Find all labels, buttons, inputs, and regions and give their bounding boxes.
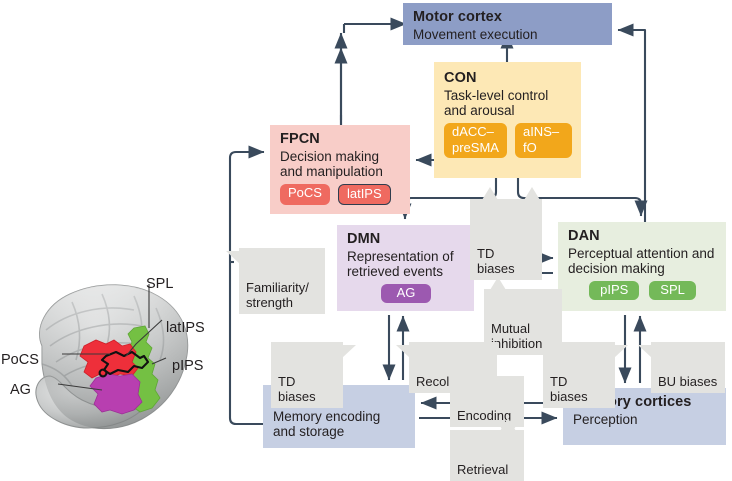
motor-subtitle: Movement execution — [413, 27, 603, 43]
brain-label-pips: pIPS — [172, 358, 203, 374]
con-title: CON — [444, 70, 572, 87]
callout-pointer-up-right-icon — [524, 187, 540, 200]
tag-spl[interactable]: SPL — [649, 281, 696, 300]
edge-label-retrieval: Retrieval — [450, 430, 524, 481]
edge-label-familiarity: Familiarity/ strength — [239, 248, 325, 314]
callout-pointer-left-icon — [226, 251, 240, 264]
dmn-title: DMN — [347, 231, 465, 248]
con-tag-row: dACC– preSMA aINS–fO — [444, 123, 572, 158]
callout-pointer-up-icon — [490, 277, 506, 290]
dmn-tag-row: AG — [347, 284, 465, 303]
dmn-subtitle: Representation of retrieved events — [347, 249, 465, 280]
diagram-canvas: Motor cortex Movement execution CON Task… — [0, 0, 732, 455]
edge-label-retrieval-text: Retrieval — [457, 462, 508, 477]
sensory-subtitle: Perception — [573, 412, 717, 428]
edge-label-td-biases-sens-dan-text: TD biases — [550, 374, 588, 404]
dan-tag-row: pIPS SPL — [568, 281, 717, 300]
node-dmn[interactable]: DMN Representation of retrieved events A… — [337, 225, 474, 311]
mtl-subtitle: Memory encoding and storage — [273, 409, 406, 440]
edge-label-td-biases-mtl-dmn: TD biases — [271, 342, 343, 408]
fpcn-subtitle: Decision making and manipulation — [280, 149, 401, 180]
callout-pointer-up-icon — [500, 418, 516, 431]
node-fpcn[interactable]: FPCN Decision making and manipulation Po… — [270, 125, 410, 214]
callout-pointer-left-icon — [638, 345, 652, 358]
brain-label-pocs: PoCS — [1, 352, 39, 368]
edge-label-familiarity-text: Familiarity/ strength — [246, 280, 309, 310]
brain-label-spl: SPL — [146, 276, 173, 292]
edge-label-td-biases-con: TD biases — [470, 199, 542, 280]
con-subtitle: Task-level control and arousal — [444, 88, 572, 119]
edge-label-td-biases-con-text: TD biases — [477, 246, 515, 276]
edge-label-mutual-inhibition-text: Mutual inhibition — [491, 321, 542, 351]
callout-pointer-right-icon — [342, 345, 356, 358]
dan-subtitle: Perceptual attention and decision making — [568, 246, 717, 277]
fpcn-tag-row: PoCS latIPS — [280, 184, 401, 205]
tag-ag[interactable]: AG — [381, 284, 432, 303]
edge-label-bu-biases-text: BU biases — [658, 374, 717, 389]
motor-title: Motor cortex — [413, 9, 603, 26]
node-con[interactable]: CON Task-level control and arousal dACC–… — [434, 62, 581, 178]
edge-label-td-biases-sens-dan: TD biases — [543, 342, 615, 408]
callout-pointer-left-icon — [396, 345, 410, 358]
edge-label-td-biases-mtl-dmn-text: TD biases — [278, 374, 316, 404]
node-motor-cortex[interactable]: Motor cortex Movement execution — [403, 3, 612, 45]
fpcn-title: FPCN — [280, 131, 401, 148]
callout-pointer-right-icon — [614, 345, 628, 358]
edge-label-bu-biases: BU biases — [651, 342, 725, 393]
callout-pointer-up-left-icon — [482, 187, 498, 200]
dan-title: DAN — [568, 228, 717, 245]
tag-pips[interactable]: pIPS — [589, 281, 639, 300]
tag-ains-fo[interactable]: aINS–fO — [515, 123, 572, 158]
brain-region-ag — [90, 374, 142, 414]
tag-latips[interactable]: latIPS — [338, 184, 391, 205]
node-dan[interactable]: DAN Perceptual attention and decision ma… — [558, 222, 726, 311]
brain-label-latips: latIPS — [166, 320, 205, 336]
tag-dacc-presma[interactable]: dACC– preSMA — [444, 123, 507, 158]
brain-label-ag: AG — [10, 382, 31, 398]
tag-pocs[interactable]: PoCS — [280, 184, 330, 205]
